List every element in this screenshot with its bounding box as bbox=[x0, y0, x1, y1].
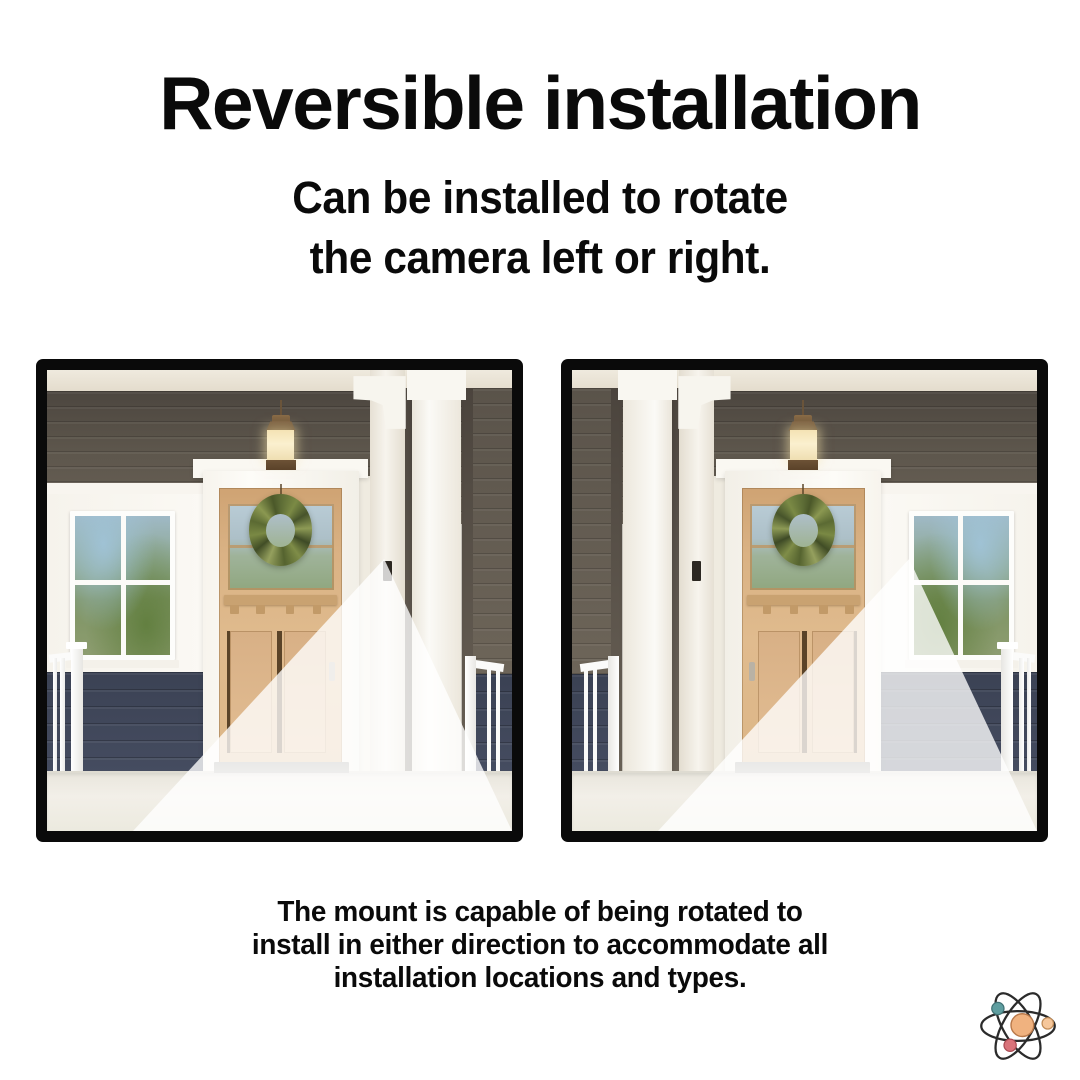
door-handle bbox=[749, 662, 755, 681]
railing-baluster bbox=[584, 669, 588, 780]
lantern-cord bbox=[802, 400, 804, 416]
door-wreath bbox=[249, 494, 312, 565]
door-shelf bbox=[224, 595, 337, 605]
porch-railing-right bbox=[456, 656, 512, 785]
porch-window bbox=[909, 511, 1014, 661]
door-panel-right bbox=[758, 631, 800, 753]
lantern-base bbox=[266, 460, 295, 470]
window-glass bbox=[914, 516, 1009, 656]
porch-floor bbox=[572, 773, 1037, 831]
column-cap bbox=[407, 370, 466, 400]
door-dentil-block bbox=[790, 605, 799, 614]
door-dentil-block bbox=[819, 605, 828, 614]
porch-photo-left bbox=[47, 370, 512, 831]
porch-lantern bbox=[786, 400, 819, 474]
railing-post bbox=[465, 656, 476, 785]
door-shelf bbox=[747, 595, 860, 605]
infographic-page: Reversible installation Can be installed… bbox=[0, 0, 1080, 1080]
porch-railing-left bbox=[49, 647, 105, 785]
door-dentil-block bbox=[845, 605, 854, 614]
caption-line-2: install in either direction to accommoda… bbox=[22, 929, 1059, 962]
railing-post-cap bbox=[66, 642, 87, 649]
porch-column-wide bbox=[623, 370, 672, 776]
caption-line-1: The mount is capable of being rotated to bbox=[22, 896, 1059, 929]
lantern-base bbox=[788, 460, 817, 470]
door-panel-left bbox=[230, 631, 272, 753]
atom-icon bbox=[974, 984, 1062, 1068]
door-dentil-block bbox=[286, 605, 295, 614]
porch-floor bbox=[47, 773, 512, 831]
porch-railing-left bbox=[979, 647, 1035, 785]
railing-baluster bbox=[487, 669, 491, 780]
porch-photo-right bbox=[572, 370, 1037, 831]
footer-caption: The mount is capable of being rotated to… bbox=[22, 896, 1059, 995]
railing-post-cap bbox=[997, 642, 1018, 649]
column-cap bbox=[618, 370, 677, 400]
photo-panel-left bbox=[36, 359, 523, 842]
door-dentil-block bbox=[256, 605, 265, 614]
door-dentil-block bbox=[313, 605, 322, 614]
door-wreath bbox=[772, 494, 835, 565]
railing-baluster bbox=[593, 669, 597, 780]
siding-right bbox=[473, 388, 512, 674]
railing-baluster bbox=[1027, 658, 1031, 780]
railing-post bbox=[71, 647, 83, 785]
door-handle bbox=[329, 662, 335, 681]
lantern-glass bbox=[267, 430, 294, 461]
door-dentil-block bbox=[230, 605, 239, 614]
porch-railing-right bbox=[572, 656, 628, 785]
railing-post bbox=[1001, 647, 1013, 785]
railing-baluster bbox=[496, 669, 500, 780]
photo-panel-right bbox=[561, 359, 1048, 842]
porch-scene bbox=[572, 370, 1037, 831]
railing-post bbox=[608, 656, 619, 785]
railing-baluster bbox=[53, 658, 57, 780]
subtitle-line-1: Can be installed to rotate bbox=[32, 168, 1047, 228]
atom-electron-teal bbox=[992, 1002, 1004, 1014]
doorbell-icon bbox=[692, 561, 702, 580]
lantern-glass bbox=[790, 430, 817, 461]
door-panel-reveal bbox=[802, 631, 807, 753]
porch-scene bbox=[47, 370, 512, 831]
door-panel-reveal bbox=[277, 631, 282, 753]
page-title: Reversible installation bbox=[0, 62, 1080, 144]
porch-window bbox=[70, 511, 175, 661]
atom-electron-red bbox=[1004, 1039, 1016, 1051]
porch-column-wide bbox=[412, 370, 461, 776]
doormat bbox=[214, 762, 349, 774]
railing-baluster bbox=[1019, 658, 1023, 780]
caption-line-3: installation locations and types. bbox=[22, 962, 1059, 995]
door-dentil-block bbox=[763, 605, 772, 614]
subtitle: Can be installed to rotate the camera le… bbox=[32, 168, 1047, 288]
doormat bbox=[735, 762, 870, 774]
subtitle-line-2: the camera left or right. bbox=[32, 228, 1047, 288]
door-panel-right bbox=[284, 631, 326, 753]
lantern-cord bbox=[280, 400, 282, 416]
window-glass bbox=[75, 516, 170, 656]
doorbell-icon bbox=[383, 561, 393, 580]
siding-right bbox=[572, 388, 611, 674]
door-panel-left bbox=[812, 631, 854, 753]
railing-baluster bbox=[60, 658, 64, 780]
porch-lantern bbox=[264, 400, 297, 474]
atom-nucleus bbox=[1011, 1014, 1034, 1037]
atom-electron-orange bbox=[1042, 1018, 1053, 1029]
brand-logo bbox=[974, 984, 1062, 1068]
